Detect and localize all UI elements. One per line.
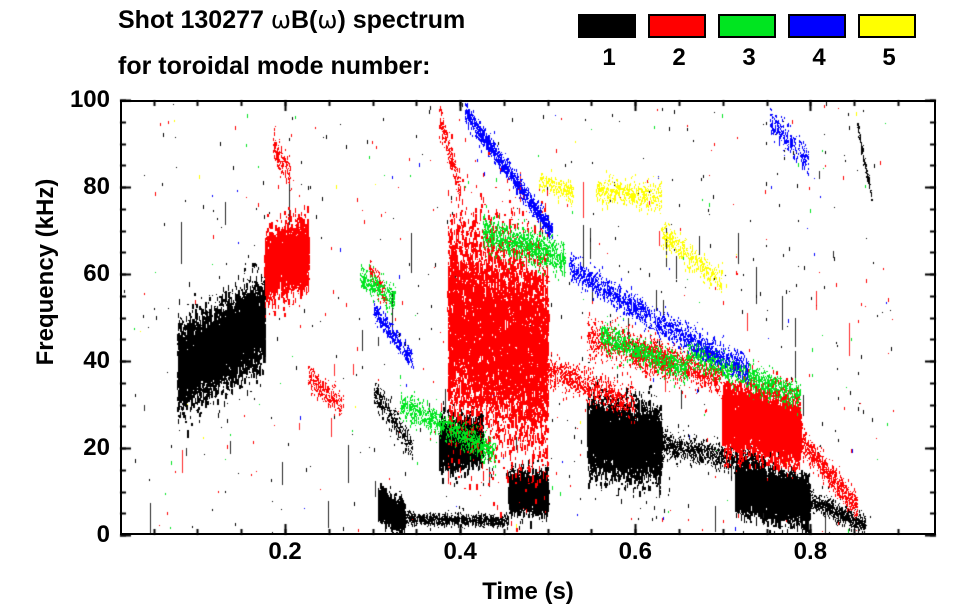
- title-b-text: B(: [291, 6, 317, 34]
- title-shot-text: Shot 130277: [118, 6, 271, 34]
- title-spectrum-text: ) spectrum: [337, 6, 465, 34]
- legend: 12345: [578, 14, 938, 90]
- plot-area: [120, 100, 936, 535]
- legend-swatch-2: [648, 14, 706, 38]
- y-tick-20: 20: [40, 436, 110, 460]
- figure-title-line-2: for toroidal mode number:: [118, 52, 431, 81]
- legend-item-2: 2: [648, 14, 710, 70]
- y-tick-0: 0: [40, 523, 110, 547]
- omega-symbol-1: ω: [271, 6, 291, 34]
- omega-symbol-2: ω: [317, 6, 337, 34]
- legend-item-3: 3: [718, 14, 780, 70]
- y-tick-80: 80: [40, 175, 110, 199]
- x-tick-0.4: 0.4: [420, 540, 500, 564]
- y-tick-60: 60: [40, 262, 110, 286]
- legend-label-3: 3: [718, 46, 780, 70]
- legend-label-5: 5: [858, 46, 920, 70]
- legend-item-4: 4: [788, 14, 850, 70]
- legend-swatch-1: [578, 14, 636, 38]
- spectrogram-canvas: [122, 102, 934, 533]
- figure-title-line-1: Shot 130277 ωB(ω) spectrum: [118, 6, 465, 35]
- y-axis-tick-labels: 020406080100: [32, 0, 110, 615]
- x-tick-0.2: 0.2: [245, 540, 325, 564]
- x-tick-0.6: 0.6: [595, 540, 675, 564]
- legend-swatch-4: [788, 14, 846, 38]
- y-tick-100: 100: [40, 88, 110, 112]
- legend-label-4: 4: [788, 46, 850, 70]
- legend-swatch-5: [858, 14, 916, 38]
- legend-swatch-3: [718, 14, 776, 38]
- legend-item-1: 1: [578, 14, 640, 70]
- x-axis-label: Time (s): [120, 578, 936, 606]
- spectrogram-figure: Shot 130277 ωB(ω) spectrum for toroidal …: [0, 0, 963, 615]
- legend-item-5: 5: [858, 14, 920, 70]
- x-tick-0.8: 0.8: [770, 540, 850, 564]
- legend-label-1: 1: [578, 46, 640, 70]
- legend-label-2: 2: [648, 46, 710, 70]
- y-tick-40: 40: [40, 349, 110, 373]
